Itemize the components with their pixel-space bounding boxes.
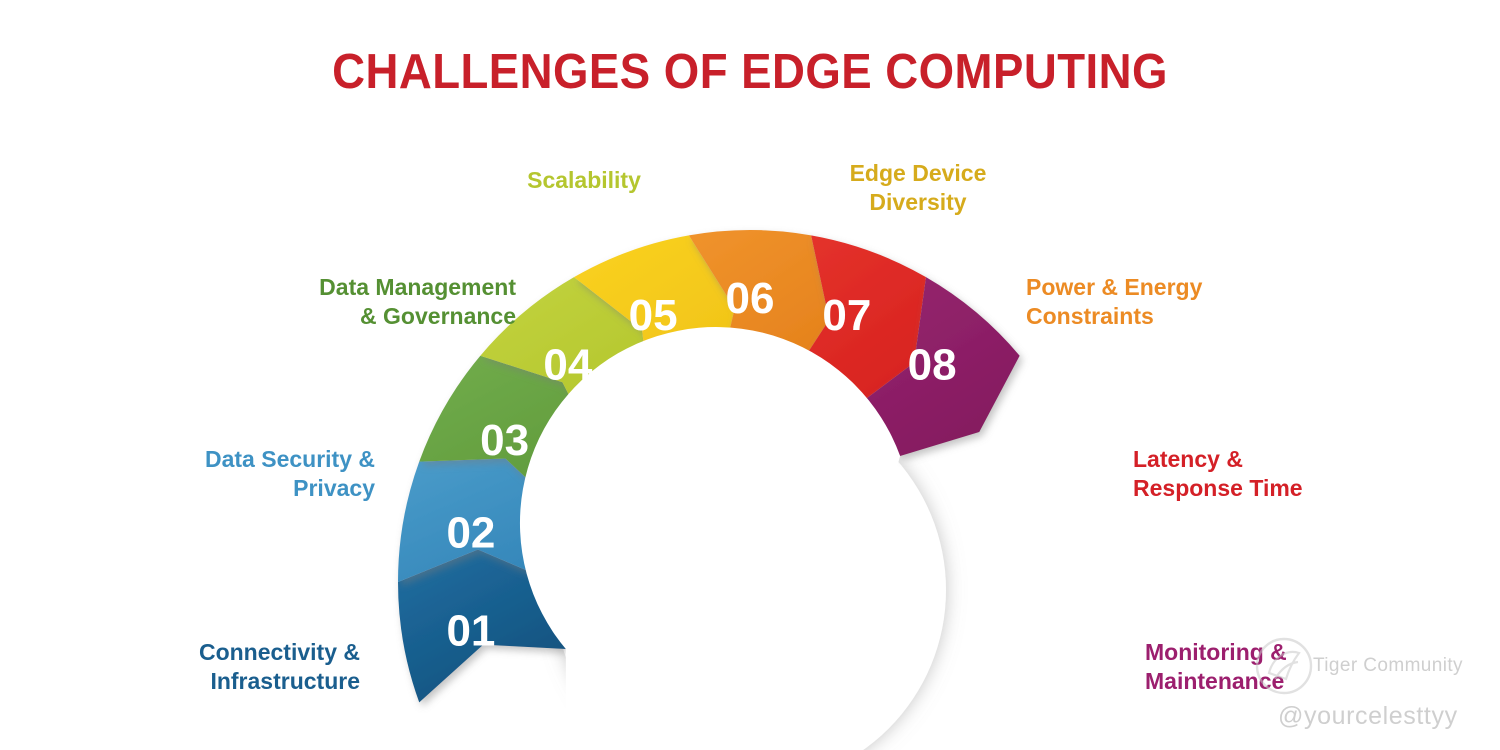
segment-label-05: Edge Device Diversity [788,159,1048,218]
segment-label-04: Scalability [454,166,714,195]
segment-label-07: Latency & Response Time [1133,445,1463,504]
segment-number-04: 04 [543,340,592,389]
segment-number-06: 06 [726,274,775,323]
infographic-canvas: CHALLENGES OF EDGE COMPUTING [0,0,1500,750]
tiger-circle-logo-icon [1253,635,1315,697]
segment-label-03: Data Management & Governance [180,273,516,332]
segment-number-01: 01 [446,607,495,656]
watermark-handle: @yourcelesttyy [1278,702,1458,731]
segment-number-03: 03 [480,416,529,465]
segment-label-02: Data Security & Privacy [60,445,375,504]
segment-number-05: 05 [629,291,678,340]
segment-number-02: 02 [446,508,495,557]
segment-label-01: Connectivity & Infrastructure [60,638,360,697]
segment-label-06: Power & Energy Constraints [1026,273,1356,332]
segment-number-07: 07 [822,291,871,340]
segment-number-08: 08 [908,340,957,389]
watermark-name: Tiger Community [1313,655,1463,677]
